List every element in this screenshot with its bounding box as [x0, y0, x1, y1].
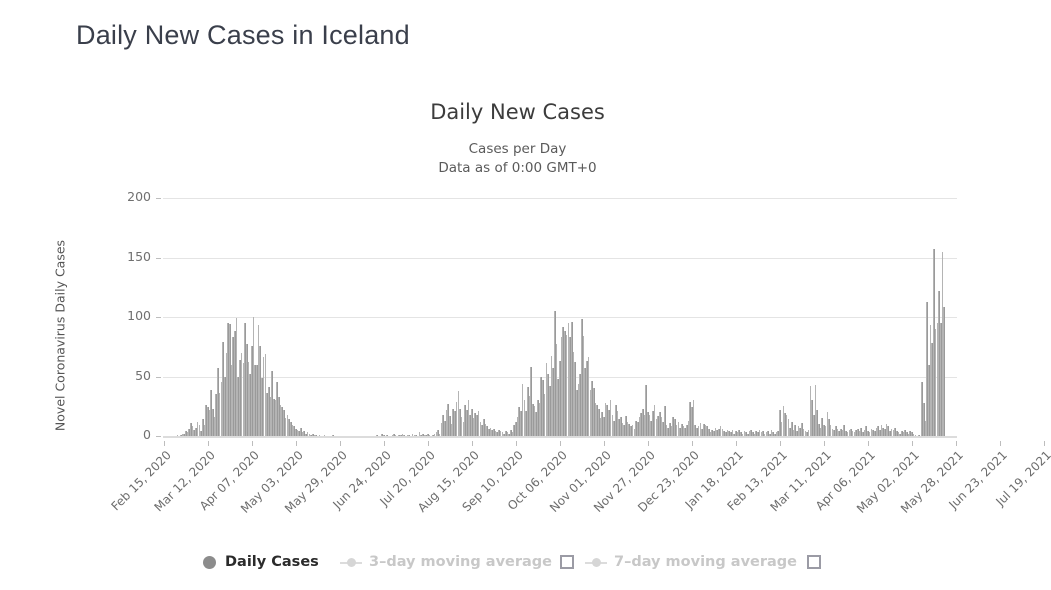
x-tick-mark: [1044, 441, 1045, 446]
x-tick-mark: [164, 441, 165, 446]
plot-area: Novel Coronavirus Daily Cases 0501001502…: [0, 88, 1051, 590]
x-tick-label: May 03, 2020: [225, 448, 306, 529]
x-tick-mark: [516, 441, 517, 446]
x-tick-label: Jun 24, 2020: [313, 448, 394, 529]
y-tick-mark: [156, 436, 161, 437]
x-axis-line: [163, 436, 957, 438]
bar[interactable]: [386, 435, 388, 436]
x-tick-label: Dec 23, 2020: [621, 448, 702, 529]
bar[interactable]: [918, 435, 920, 436]
y-tick-mark: [156, 377, 161, 378]
y-tick-label: 50: [105, 368, 151, 383]
x-tick-label: May 02, 2021: [841, 448, 922, 529]
x-tick-label: Jul 20, 2020: [357, 448, 438, 529]
legend-item[interactable]: 7–day moving average: [560, 551, 797, 573]
legend-line-dot-marker-icon: [340, 556, 362, 569]
x-tick-mark: [736, 441, 737, 446]
x-tick-label: May 29, 2020: [269, 448, 350, 529]
y-tick-mark: [156, 258, 161, 259]
y-tick-label: 0: [105, 427, 151, 442]
legend-line-dot-marker-icon: [585, 556, 607, 569]
legend-item[interactable]: 3–day moving average: [340, 551, 552, 573]
bar[interactable]: [429, 435, 431, 436]
bar[interactable]: [332, 435, 334, 436]
x-tick-label: Feb 15, 2020: [93, 448, 174, 529]
y-tick-label: 200: [105, 189, 151, 204]
bar[interactable]: [376, 435, 378, 436]
x-tick-mark: [648, 441, 649, 446]
bar[interactable]: [324, 435, 326, 436]
bar[interactable]: [395, 435, 397, 436]
x-tick-mark: [340, 441, 341, 446]
x-tick-label: Apr 07, 2020: [181, 448, 262, 529]
x-tick-mark: [1000, 441, 1001, 446]
x-tick-mark: [560, 441, 561, 446]
x-tick-label: Nov 27, 2020: [577, 448, 658, 529]
y-tick-mark: [156, 198, 161, 199]
bar-series-daily-cases[interactable]: [163, 198, 951, 436]
x-tick-mark: [912, 441, 913, 446]
legend-label: 7–day moving average: [614, 554, 797, 570]
legend-checkbox[interactable]: [560, 555, 574, 569]
x-tick-label: May 28, 2021: [885, 448, 966, 529]
x-tick-label: Feb 13, 2021: [709, 448, 790, 529]
legend-item[interactable]: Daily Cases: [203, 551, 319, 573]
x-tick-label: Apr 06, 2021: [797, 448, 878, 529]
x-tick-mark: [208, 441, 209, 446]
x-tick-label: Mar 11, 2021: [753, 448, 834, 529]
x-tick-mark: [604, 441, 605, 446]
x-tick-label: Sep 10, 2020: [445, 448, 526, 529]
bar[interactable]: [408, 435, 410, 436]
y-tick-label: 150: [105, 249, 151, 264]
x-tick-label: Aug 15, 2020: [401, 448, 482, 529]
x-tick-label: Nov 01, 2020: [533, 448, 614, 529]
bar[interactable]: [943, 307, 945, 436]
x-tick-mark: [296, 441, 297, 446]
page-title: Daily New Cases in Iceland: [76, 20, 410, 51]
x-tick-label: Oct 06, 2020: [489, 448, 570, 529]
bar[interactable]: [383, 435, 385, 436]
bar[interactable]: [177, 435, 179, 436]
x-tick-label: Jul 19, 2021: [973, 448, 1051, 529]
x-tick-mark: [472, 441, 473, 446]
x-tick-label: Mar 12, 2020: [137, 448, 218, 529]
y-tick-label: 100: [105, 308, 151, 323]
x-tick-label: Jun 23, 2021: [929, 448, 1010, 529]
chart-legend[interactable]: Daily Cases3–day moving average7–day mov…: [0, 546, 1051, 586]
bar[interactable]: [315, 435, 317, 436]
x-tick-mark: [824, 441, 825, 446]
x-tick-mark: [780, 441, 781, 446]
y-tick-mark: [156, 317, 161, 318]
legend-label: 3–day moving average: [369, 554, 552, 570]
bar[interactable]: [403, 435, 405, 436]
legend-label: Daily Cases: [225, 554, 319, 570]
x-tick-mark: [384, 441, 385, 446]
x-tick-mark: [692, 441, 693, 446]
bar[interactable]: [319, 435, 321, 436]
x-tick-mark: [956, 441, 957, 446]
legend-checkbox-trailing[interactable]: [807, 555, 821, 569]
x-tick-label: Jan 18, 2021: [665, 448, 746, 529]
bar[interactable]: [415, 435, 417, 436]
bar[interactable]: [915, 435, 917, 436]
x-tick-mark: [428, 441, 429, 446]
chart-panel: Daily New Cases Cases per Day Data as of…: [0, 88, 1051, 590]
y-axis-title: Novel Coronavirus Daily Cases: [53, 211, 68, 461]
x-tick-mark: [252, 441, 253, 446]
x-tick-mark: [868, 441, 869, 446]
legend-circle-marker-icon: [203, 556, 216, 569]
